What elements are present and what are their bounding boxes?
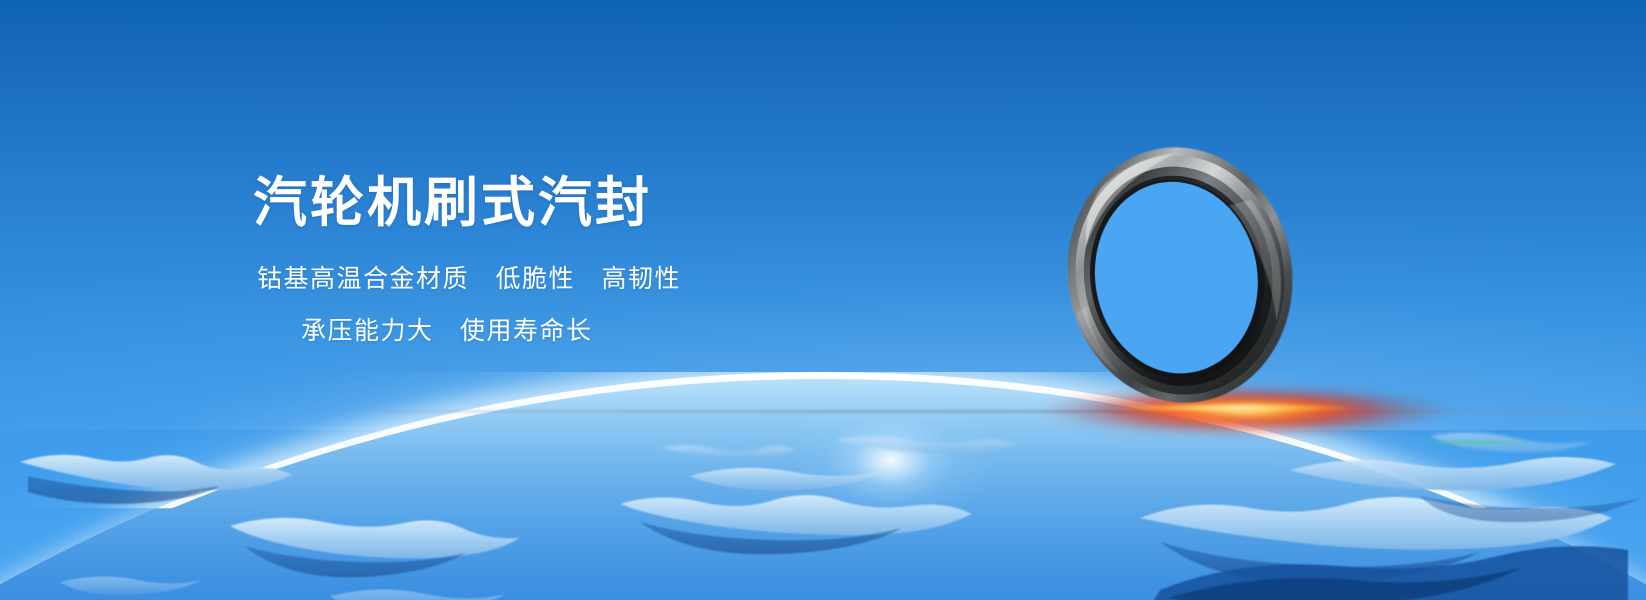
product-ring (1064, 142, 1296, 408)
brush-seal-ring-icon (1064, 142, 1296, 408)
globe-sphere (0, 372, 1646, 600)
banner-subtitle-line-1: 钴基高温合金材质 低脆性 高韧性 (253, 262, 953, 296)
banner-subtitle-line-2: 承压能力大 使用寿命长 (253, 314, 953, 348)
globe-container (0, 372, 1646, 600)
banner-headline: 汽轮机刷式汽封 (253, 172, 953, 234)
banner-copy: 汽轮机刷式汽封 钴基高温合金材质 低脆性 高韧性 承压能力大 使用寿命长 (253, 172, 953, 348)
hero-banner: 汽轮机刷式汽封 钴基高温合金材质 低脆性 高韧性 承压能力大 使用寿命长 (0, 0, 1646, 600)
